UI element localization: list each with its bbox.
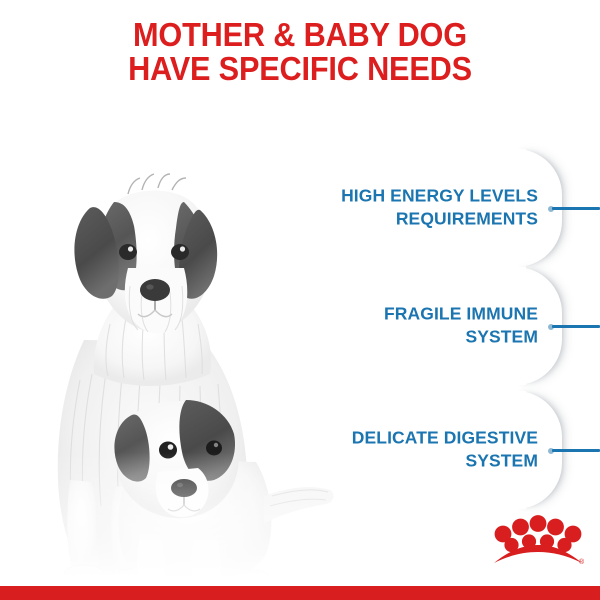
callout-line-1: FRAGILE IMMUNE bbox=[310, 303, 538, 326]
poster-canvas: MOTHER & BABY DOG HAVE SPECIFIC NEEDS bbox=[0, 0, 600, 600]
callout-line-1: DELICATE DIGESTIVE bbox=[310, 427, 538, 450]
callout-text: HIGH ENERGY LEVELS REQUIREMENTS bbox=[310, 185, 538, 232]
callout-line-2: SYSTEM bbox=[310, 450, 538, 473]
callout-line-2: SYSTEM bbox=[310, 326, 538, 349]
royal-canin-logo: ® bbox=[490, 510, 586, 572]
connector-line bbox=[552, 207, 600, 210]
registered-trademark-symbol: ® bbox=[579, 558, 585, 566]
callout-text: FRAGILE IMMUNE SYSTEM bbox=[310, 303, 538, 350]
page-title: MOTHER & BABY DOG HAVE SPECIFIC NEEDS bbox=[0, 18, 600, 86]
callout-high-energy: HIGH ENERGY LEVELS REQUIREMENTS bbox=[300, 149, 600, 267]
callout-delicate-digestive: DELICATE DIGESTIVE SYSTEM bbox=[300, 391, 600, 509]
connector-line bbox=[552, 325, 600, 328]
bottom-accent-bar bbox=[0, 586, 600, 600]
crown-icon bbox=[494, 515, 582, 563]
callout-fragile-immune: FRAGILE IMMUNE SYSTEM bbox=[300, 267, 600, 385]
callout-line-2: REQUIREMENTS bbox=[310, 208, 538, 231]
callout-line-1: HIGH ENERGY LEVELS bbox=[310, 185, 538, 208]
dogs-photo bbox=[18, 128, 348, 578]
connector-line bbox=[552, 449, 600, 452]
callout-text: DELICATE DIGESTIVE SYSTEM bbox=[310, 427, 538, 474]
headline-line-2: HAVE SPECIFIC NEEDS bbox=[21, 52, 579, 86]
headline-line-1: MOTHER & BABY DOG bbox=[21, 18, 579, 52]
